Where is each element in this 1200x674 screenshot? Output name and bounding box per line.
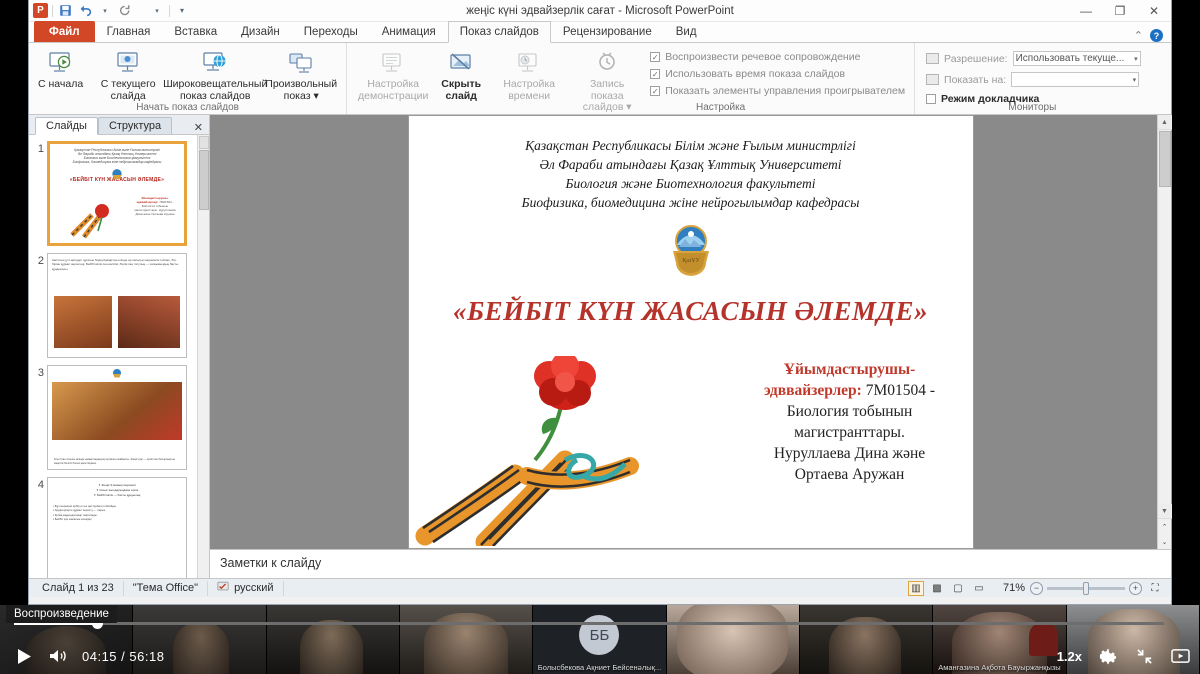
tab-design[interactable]: Дизайн (229, 21, 292, 42)
button-from-beginning[interactable]: С начала (34, 46, 87, 91)
slide-canvas[interactable]: Қазақстан Республикасы Білім және Ғылым … (210, 115, 1171, 549)
chevron-down-icon[interactable]: ▾ (1133, 76, 1137, 84)
notes-placeholder: Заметки к слайду (220, 556, 1161, 570)
show-on-icon (926, 74, 939, 85)
button-broadcast-slideshow[interactable]: Широковещательный показ слайдов (169, 46, 261, 102)
button-label: Произвольный показ ▾ (265, 79, 337, 102)
slide-number: 1 (31, 141, 44, 246)
view-slideshow-icon[interactable]: ▭ (971, 581, 987, 596)
record-slideshow-icon (592, 48, 622, 78)
work-area: Слайды Структура ✕ 1 Қазақстан Республик… (29, 115, 1171, 578)
tab-review[interactable]: Рецензирование (551, 21, 664, 42)
notes-pane[interactable]: Заметки к слайду (210, 549, 1171, 578)
hide-slide-icon (446, 48, 476, 78)
chevron-down-icon[interactable]: ▾ (1134, 55, 1138, 63)
ribbon-group-setup: Настройка демонстрации Скрыть слайд Наст… (347, 43, 915, 114)
thumbnail-list[interactable]: 1 Қазақстан Республикасы Білім және Ғылы… (29, 135, 209, 578)
zoom-level-label[interactable]: 71% (1003, 582, 1025, 594)
slide-counter: Слайд 1 из 23 (33, 581, 124, 596)
header-line-3: Биология және Биотехнология факультеті (409, 174, 973, 193)
slide-number: 2 (31, 253, 44, 358)
status-right-controls[interactable]: ▥ ▩ ▢ ▭ 71% − + ⛶ (908, 581, 1167, 596)
button-hide-slide[interactable]: Скрыть слайд (434, 46, 488, 102)
spellcheck-icon (217, 581, 229, 595)
slide-number: 3 (31, 365, 44, 470)
right-player-controls[interactable]: 1.2x (1057, 646, 1190, 666)
button-label: С начала (38, 79, 83, 91)
checkbox-box[interactable]: ✓ (650, 69, 660, 79)
group-label: Мониторы (920, 102, 1145, 115)
organizers-line-5: Ортаева Аружан (795, 466, 905, 483)
checkbox-label: Использовать время показа слайдов (665, 68, 845, 80)
collapse-ribbon-icon[interactable]: ⌃ (1134, 29, 1143, 42)
slide-thumbnail-1[interactable]: 1 Қазақстан Республикасы Білім және Ғылы… (31, 141, 209, 246)
tab-slideshow[interactable]: Показ слайдов (448, 21, 551, 43)
slide-title: «БЕЙБІТ КҮН ЖАСАСЫН ӘЛЕМДЕ» (409, 296, 973, 327)
header-line-4: Биофизика, биомедицина жіне нейрогылымда… (409, 193, 973, 212)
playback-tooltip: Воспроизведение (6, 605, 117, 623)
ribbon-group-start-slideshow: С начала С текущего слайда Широковещател… (29, 43, 347, 114)
button-set-up-show[interactable]: Настройка демонстрации (352, 46, 434, 102)
checkbox-box[interactable]: ✓ (650, 86, 660, 96)
organizers-line-3: магистранттары. (794, 424, 905, 441)
view-slide-sorter-icon[interactable]: ▩ (929, 581, 945, 596)
thumbnail-image[interactable]: ✦ Жеңіс 9 мамыр мерекесі ✦ Соғыс жылдары… (47, 477, 187, 578)
time-display: 04:15 / 56:18 (82, 649, 164, 664)
checkbox-label: Показать элементы управления проигрывате… (665, 85, 905, 97)
resolution-value: Использовать текуще... (1016, 53, 1134, 64)
button-label: Настройка времени (492, 79, 566, 102)
start-from-current-icon (113, 48, 143, 78)
start-from-beginning-icon (46, 48, 76, 78)
next-slide-icon[interactable]: ⌄ (1158, 534, 1172, 549)
language-status[interactable]: русский (208, 581, 283, 596)
slide-thumbnail-4[interactable]: 4 ✦ Жеңіс 9 мамыр мерекесі ✦ Соғыс жылда… (31, 477, 209, 578)
organizers-line-1: 7M01504 - (866, 382, 935, 399)
language-label: русский (234, 582, 273, 594)
checkbox-show-media-controls[interactable]: ✓ Показать элементы управления проигрыва… (650, 85, 905, 97)
header-line-2: Әл Фараби атындағы Қазақ Ұлттық Универси… (409, 155, 973, 174)
total-time: 56:18 (129, 649, 164, 664)
screen-root: P ▾ ▾ ▾ жеңіс күні эдвайзерлік сағат - M… (0, 0, 1200, 674)
tab-file[interactable]: Файл (34, 21, 95, 42)
button-label: Скрыть слайд (438, 79, 484, 102)
zoom-in-button[interactable]: + (1129, 582, 1142, 595)
powerpoint-window: P ▾ ▾ ▾ жеңіс күні эдвайзерлік сағат - M… (28, 0, 1172, 605)
slide-vertical-scrollbar[interactable]: ▲ ▼ ⌃ ⌄ (1157, 115, 1171, 549)
collapse-icon[interactable] (1134, 646, 1154, 666)
show-on-dropdown[interactable]: ▾ (1011, 72, 1139, 87)
current-time: 04:15 (82, 649, 117, 664)
setup-show-icon (378, 48, 408, 78)
mini-right-text: Ұйымдастырушы-эдввайзерлер: 7M01504 - Би… (131, 196, 179, 216)
header-line-1: Қазақстан Республикасы Білім және Ғылым … (409, 136, 973, 155)
tab-insert[interactable]: Вставка (162, 21, 229, 42)
thumbnail-scrollbar[interactable] (197, 135, 209, 578)
zoom-slider[interactable]: − + (1030, 582, 1142, 595)
button-label: Широковещательный показ слайдов (163, 79, 267, 102)
slide-header-text: Қазақстан Республикасы Білім және Ғылым … (409, 136, 973, 212)
carnation-ribbon-graphic (415, 356, 715, 546)
checkbox-play-narration[interactable]: ✓ Воспроизвести речевое сопровождение (650, 51, 905, 63)
resolution-label: Разрешение: (944, 53, 1008, 65)
ribbon-body: С начала С текущего слайда Широковещател… (29, 43, 1171, 115)
time-separator: / (121, 649, 125, 664)
kaznu-emblem-icon: ҚазҰУ (665, 221, 717, 276)
checkbox-box[interactable]: ✓ (650, 52, 660, 62)
view-reading-icon[interactable]: ▢ (950, 581, 966, 596)
pane-tabs[interactable]: Слайды Структура ✕ (29, 115, 209, 135)
share-screen-icon[interactable] (1170, 646, 1190, 666)
play-button[interactable] (14, 646, 34, 666)
tab-slides[interactable]: Слайды (35, 117, 98, 135)
resolution-dropdown[interactable]: Использовать текуще... ▾ (1013, 51, 1141, 66)
theme-name[interactable]: "Тема Office" (124, 581, 208, 596)
tab-view[interactable]: Вид (664, 21, 709, 42)
slide-thumbnail-2[interactable]: 2 Көптеген ұлт өкілдері тұратын біздің Қ… (31, 253, 209, 358)
show-on-label: Показать на: (944, 74, 1006, 86)
button-label: С текущего слайда (91, 79, 165, 102)
mini-header: Қазақстан Республикасы Білім және Ғылым … (50, 144, 184, 164)
organizers-line-2: Биология тобынын (787, 403, 913, 420)
slide-thumbnail-3[interactable]: 3 Ұлы Отан соғысы кезінде қазақстандықта… (31, 365, 209, 470)
organizers-line-4: Нуруллаева Дина және (774, 445, 925, 462)
thumbnail-image[interactable]: Қазақстан Республикасы Білім және Ғылым … (47, 141, 187, 246)
scroll-down-icon[interactable]: ▼ (1158, 504, 1172, 519)
button-label: Настройка демонстрации (356, 79, 430, 102)
zoom-knob[interactable] (1083, 582, 1089, 595)
status-bar: Слайд 1 из 23 "Тема Office" русский ▥ ▩ … (29, 578, 1171, 597)
view-normal-icon[interactable]: ▥ (908, 581, 924, 596)
fit-slide-to-window-icon[interactable]: ⛶ (1147, 581, 1163, 596)
settings-gear-icon[interactable] (1098, 646, 1118, 666)
group-label: Начать показ слайдов (34, 102, 341, 115)
help-icon[interactable]: ? (1150, 29, 1163, 42)
close-pane-icon[interactable]: ✕ (188, 120, 209, 134)
previous-slide-icon[interactable]: ⌃ (1158, 519, 1172, 534)
tab-animations[interactable]: Анимация (370, 21, 448, 42)
resolution-row[interactable]: Разрешение: Использовать текуще... ▾ (926, 51, 1141, 66)
rehearse-timings-icon (514, 48, 544, 78)
ribbon-tabs[interactable]: Файл Главная Вставка Дизайн Переходы Ани… (29, 22, 1171, 43)
progress-track[interactable] (14, 622, 1164, 625)
scrollbar-thumb[interactable] (1159, 131, 1171, 187)
tab-outline[interactable]: Структура (98, 117, 172, 134)
mini-slide-1: Қазақстан Республикасы Білім және Ғылым … (50, 144, 184, 243)
slide-number: 4 (31, 477, 44, 578)
setup-checkbox-list: ✓ Воспроизвести речевое сопровождение ✓ … (644, 46, 909, 97)
title-bar: P ▾ ▾ ▾ жеңіс күні эдвайзерлік сағат - M… (29, 0, 1171, 22)
zoom-track[interactable] (1047, 587, 1125, 590)
volume-icon[interactable] (48, 646, 68, 666)
show-on-row[interactable]: Показать на: ▾ (926, 72, 1141, 87)
slide-stage: Қазақстан Республикасы Білім және Ғылым … (210, 115, 1171, 578)
tab-transitions[interactable]: Переходы (292, 21, 370, 42)
broadcast-slideshow-icon (200, 48, 230, 78)
playback-speed-button[interactable]: 1.2x (1057, 649, 1082, 664)
video-conference-bar: ББ Болысбекова Ақниет Бейсенәлық... Аман… (0, 605, 1200, 674)
current-slide[interactable]: Қазақстан Республикасы Білім және Ғылым … (408, 115, 974, 549)
checkbox-use-timings[interactable]: ✓ Использовать время показа слайдов (650, 68, 905, 80)
thumbnail-image[interactable]: Көптеген ұлт өкілдері тұратын біздің Қаз… (47, 253, 187, 358)
ribbon-right-controls[interactable]: ⌃ ? (1134, 29, 1171, 42)
custom-slideshow-icon (286, 48, 316, 78)
left-player-controls[interactable]: 04:15 / 56:18 (14, 646, 164, 666)
scroll-up-icon[interactable]: ▲ (1158, 115, 1172, 130)
ribbon-group-monitors: Разрешение: Использовать текуще... ▾ Пок… (915, 43, 1150, 114)
svg-text:ҚазҰУ: ҚазҰУ (682, 258, 700, 264)
button-rehearse-timings[interactable]: Настройка времени (488, 46, 570, 102)
media-player-controls: Воспроизведение 04:15 / 56:18 1.2x (0, 605, 1200, 674)
tab-home[interactable]: Главная (95, 21, 163, 42)
checkbox-label: Воспроизвести речевое сопровождение (665, 51, 860, 63)
slide-thumbnail-pane: Слайды Структура ✕ 1 Қазақстан Республик… (29, 115, 210, 578)
thumbnail-image[interactable]: Ұлы Отан соғысы кезінде қазақстандықтар … (47, 365, 187, 470)
window-title: жеңіс күні эдвайзерлік сағат - Microsoft… (29, 5, 1171, 17)
resolution-icon (926, 53, 939, 64)
zoom-out-button[interactable]: − (1030, 582, 1043, 595)
button-from-current-slide[interactable]: С текущего слайда (87, 46, 169, 102)
slide-organizers-block: Ұйымдастырушы-эдввайзерлер: 7M01504 - Би… (741, 359, 959, 485)
button-custom-slideshow[interactable]: Произвольный показ ▾ (261, 46, 341, 102)
